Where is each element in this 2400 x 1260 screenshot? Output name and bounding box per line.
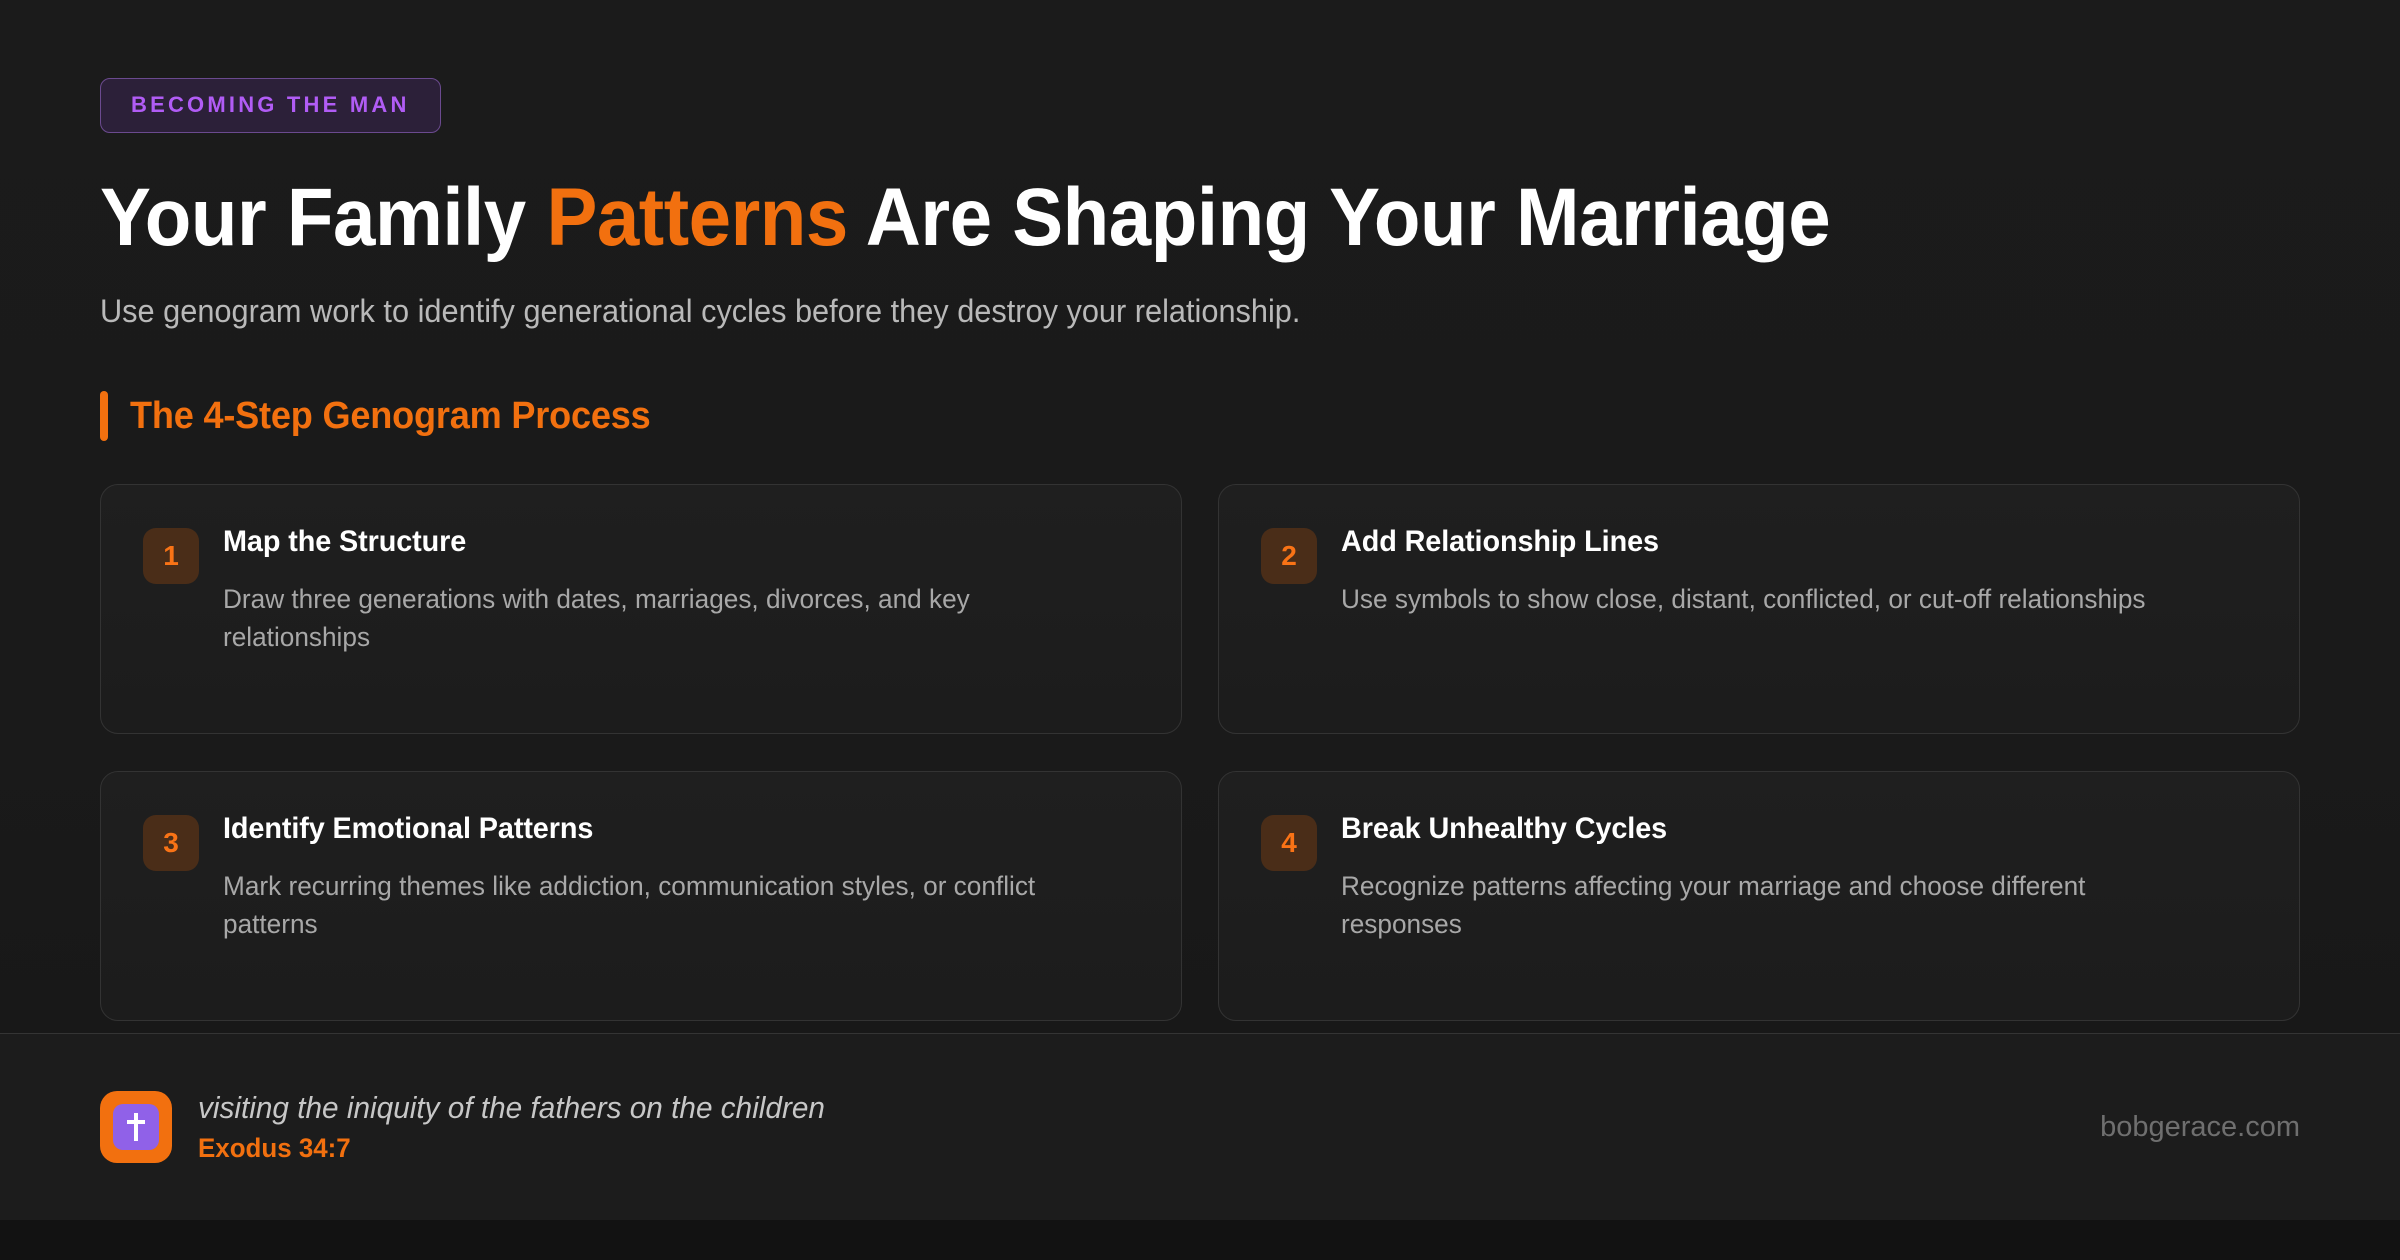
step-card[interactable]: 4 Break Unhealthy Cycles Recognize patte…	[1218, 771, 2300, 1021]
cross-icon-inner	[113, 1104, 159, 1150]
bottom-strip	[0, 1220, 2400, 1260]
step-card-body: Map the Structure Draw three generations…	[223, 525, 1137, 657]
scripture-block: visiting the iniquity of the fathers on …	[198, 1091, 851, 1164]
step-card-body: Break Unhealthy Cycles Recognize pattern…	[1341, 812, 2255, 944]
main-content: BECOMING THE MAN Your Family Patterns Ar…	[0, 0, 2400, 1033]
footer-bar: visiting the iniquity of the fathers on …	[0, 1033, 2400, 1220]
headline-part-1: Your Family	[100, 172, 546, 263]
section-title: The 4-Step Genogram Process	[130, 395, 650, 438]
site-url: bobgerace.com	[2100, 1111, 2300, 1144]
page-title: Your Family Patterns Are Shaping Your Ma…	[100, 177, 2146, 259]
step-number-badge: 4	[1261, 815, 1317, 871]
step-number-badge: 2	[1261, 528, 1317, 584]
step-card-description: Mark recurring themes like addiction, co…	[223, 867, 1077, 944]
accent-bar-icon	[100, 391, 108, 441]
page-subtitle: Use genogram work to identify generation…	[100, 291, 2212, 331]
steps-grid: 1 Map the Structure Draw three generatio…	[100, 484, 2300, 1021]
scripture-reference: Exodus 34:7	[198, 1134, 825, 1164]
scripture-quote: visiting the iniquity of the fathers on …	[198, 1091, 825, 1125]
step-card-description: Draw three generations with dates, marri…	[223, 580, 1077, 657]
step-number-badge: 3	[143, 815, 199, 871]
headline-part-2: Are Shaping Your Marriage	[848, 172, 1830, 263]
step-card-body: Identify Emotional Patterns Mark recurri…	[223, 812, 1137, 944]
step-card-body: Add Relationship Lines Use symbols to sh…	[1341, 525, 2255, 618]
step-card-title: Map the Structure	[223, 525, 1100, 558]
step-card-title: Identify Emotional Patterns	[223, 812, 1100, 845]
section-header: The 4-Step Genogram Process	[100, 391, 2300, 441]
step-card[interactable]: 3 Identify Emotional Patterns Mark recur…	[100, 771, 1182, 1021]
step-number-badge: 1	[143, 528, 199, 584]
step-card[interactable]: 1 Map the Structure Draw three generatio…	[100, 484, 1182, 734]
footer-scripture: visiting the iniquity of the fathers on …	[100, 1091, 2100, 1164]
slide-canvas: BECOMING THE MAN Your Family Patterns Ar…	[0, 0, 2400, 1260]
step-card-description: Recognize patterns affecting your marria…	[1341, 867, 2195, 944]
cross-icon	[100, 1091, 172, 1163]
step-card-title: Break Unhealthy Cycles	[1341, 812, 2218, 845]
brand-eyebrow-badge: BECOMING THE MAN	[100, 78, 441, 133]
step-card-title: Add Relationship Lines	[1341, 525, 2218, 558]
step-card-description: Use symbols to show close, distant, conf…	[1341, 580, 2195, 618]
step-card[interactable]: 2 Add Relationship Lines Use symbols to …	[1218, 484, 2300, 734]
headline-accent-word: Patterns	[546, 172, 847, 263]
